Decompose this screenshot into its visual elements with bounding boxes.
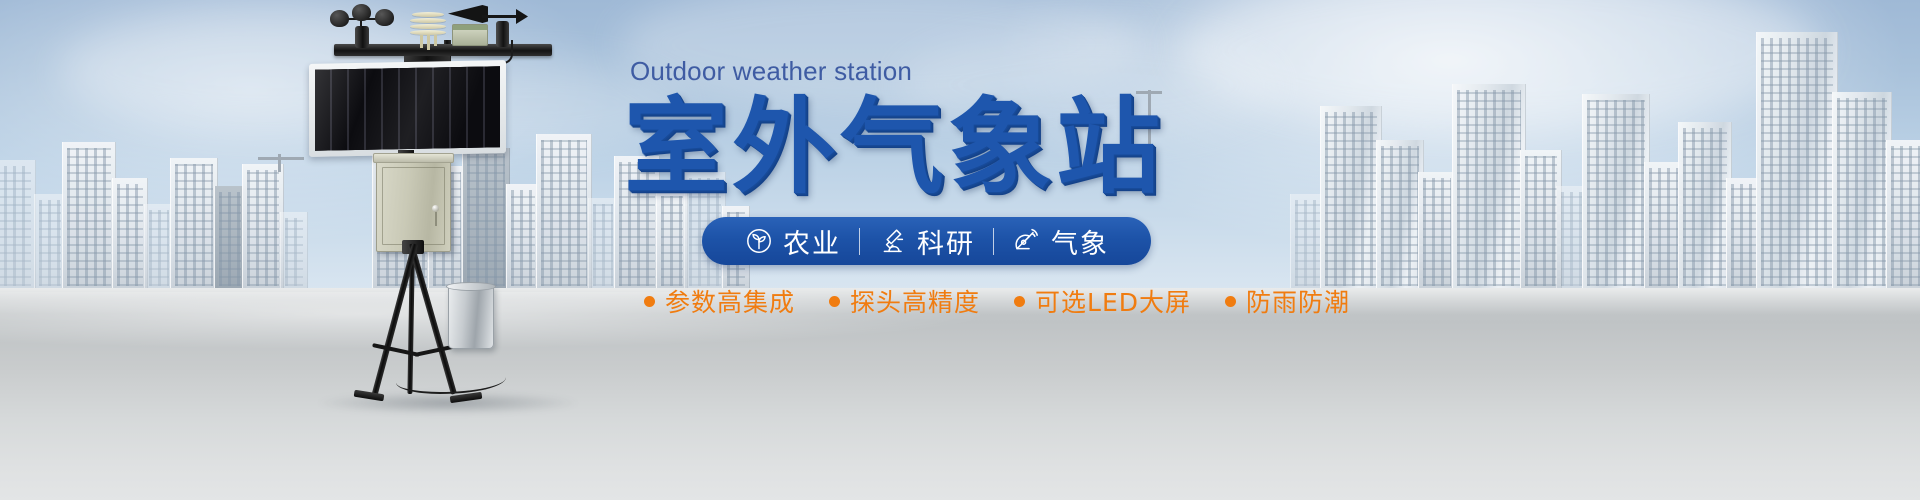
bullet-dot-icon [644, 296, 655, 307]
radiation-shield-sensor-icon [408, 12, 448, 50]
feature-label: 参数高集成 [665, 283, 795, 319]
application-item-agriculture[interactable]: 农业 [728, 222, 857, 261]
feature-list: 参数高集成 探头高精度 可选LED大屏 防雨防潮 [644, 283, 1320, 319]
bullet-dot-icon [1225, 296, 1236, 307]
rain-gauge-bucket [448, 285, 494, 349]
english-subtitle: Outdoor weather station [620, 56, 1320, 87]
feature-item: 探头高精度 [829, 283, 980, 319]
sprout-circle-icon [744, 226, 774, 256]
application-label: 科研 [917, 222, 975, 261]
wind-vane-icon [448, 3, 528, 51]
feature-label: 探头高精度 [850, 283, 980, 319]
microscope-icon [878, 226, 908, 256]
feature-item: 可选LED大屏 [1014, 283, 1191, 319]
control-cabinet [376, 158, 451, 252]
application-item-research[interactable]: 科研 [862, 222, 991, 261]
feature-item: 防雨防潮 [1225, 283, 1350, 319]
banner-copy: Outdoor weather station 室外气象站 农业 [620, 56, 1320, 319]
weather-station-product-image [300, 0, 630, 420]
application-label: 农业 [783, 222, 841, 261]
solar-panel [309, 60, 506, 157]
application-label: 气象 [1051, 222, 1109, 261]
application-item-meteorology[interactable]: 气象 [996, 222, 1125, 261]
anemometer-icon [330, 4, 396, 50]
divider [993, 228, 994, 255]
satellite-dish-icon [1012, 226, 1042, 256]
page-title: 室外气象站 [620, 89, 1320, 205]
applications-pill: 农业 科研 [702, 217, 1151, 265]
bullet-dot-icon [829, 296, 840, 307]
product-banner: Outdoor weather station 室外气象站 农业 [0, 0, 1920, 500]
feature-label: 可选LED大屏 [1035, 283, 1191, 319]
feature-item: 参数高集成 [644, 283, 795, 319]
bullet-dot-icon [1014, 296, 1025, 307]
divider [859, 228, 860, 255]
feature-label: 防雨防潮 [1246, 283, 1350, 319]
